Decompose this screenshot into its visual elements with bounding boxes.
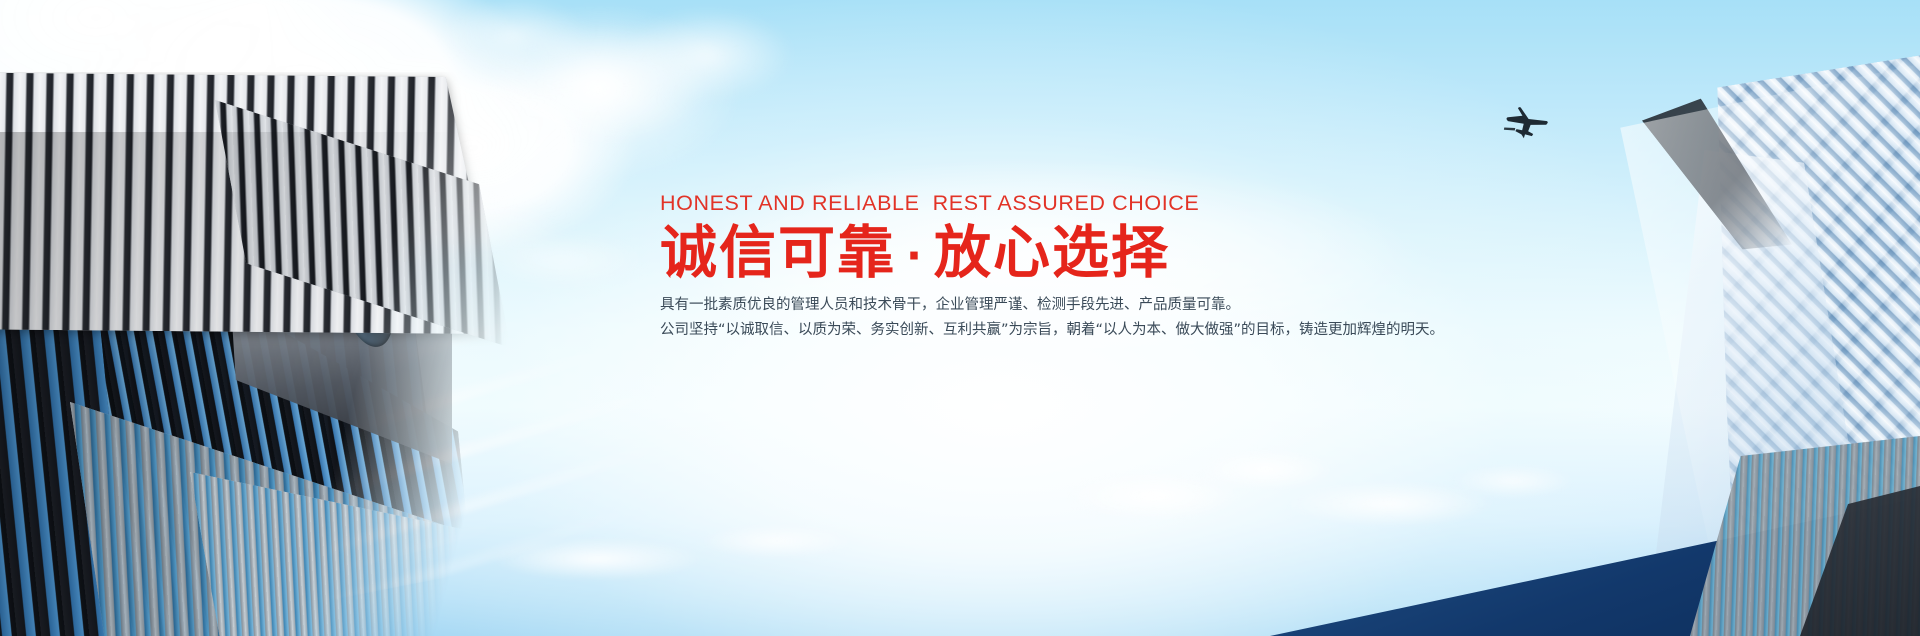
left-building-roof [0, 72, 502, 334]
left-building-lower-block [70, 402, 536, 636]
hero-banner: HONEST AND RELIABLE REST ASSURED CHOICE … [0, 0, 1920, 636]
hero-description-line-2: 公司坚持“以诚取信、以质为荣、务实创新、互利共赢”为宗旨，朝着“以人为本、做大做… [660, 318, 1400, 343]
hero-description-line-1: 具有一批素质优良的管理人员和技术骨干，企业管理严谨、检测手段先进、产品质量可靠。 [660, 293, 1400, 318]
cumulus-cloud-top-center [430, 0, 850, 180]
left-building-oval-window [334, 259, 401, 352]
left-building-facade [0, 192, 490, 636]
hero-headline-part-2: 放心选择 [934, 220, 1170, 286]
right-building-roof-detail [1642, 84, 1806, 271]
hero-description: 具有一批素质优良的管理人员和技术骨干，企业管理严谨、检测手段先进、产品质量可靠。… [660, 293, 1400, 343]
cloud-bottom-left [430, 466, 990, 616]
left-building-facade-side [90, 222, 510, 636]
hero-headline: 诚信可靠·放心选择 [660, 224, 1400, 283]
hero-eyebrow-english: HONEST AND RELIABLE REST ASSURED CHOICE [660, 193, 1400, 215]
cirrus-cloud-lower-left-2 [0, 92, 979, 636]
left-building-lower-block-2 [190, 472, 564, 636]
left-building-corner-edge [222, 164, 452, 464]
hero-headline-separator-dot: · [896, 231, 934, 280]
left-building [0, 72, 600, 636]
cloud-bottom-center [980, 386, 1600, 576]
left-building-roof-secondary [215, 100, 510, 348]
cloud-wisp-upper [250, 120, 670, 320]
left-building-shadow [0, 132, 560, 636]
hero-copy: HONEST AND RELIABLE REST ASSURED CHOICE … [660, 193, 1400, 343]
airplane-icon [1492, 98, 1555, 146]
hero-headline-part-1: 诚信可靠 [660, 220, 896, 286]
